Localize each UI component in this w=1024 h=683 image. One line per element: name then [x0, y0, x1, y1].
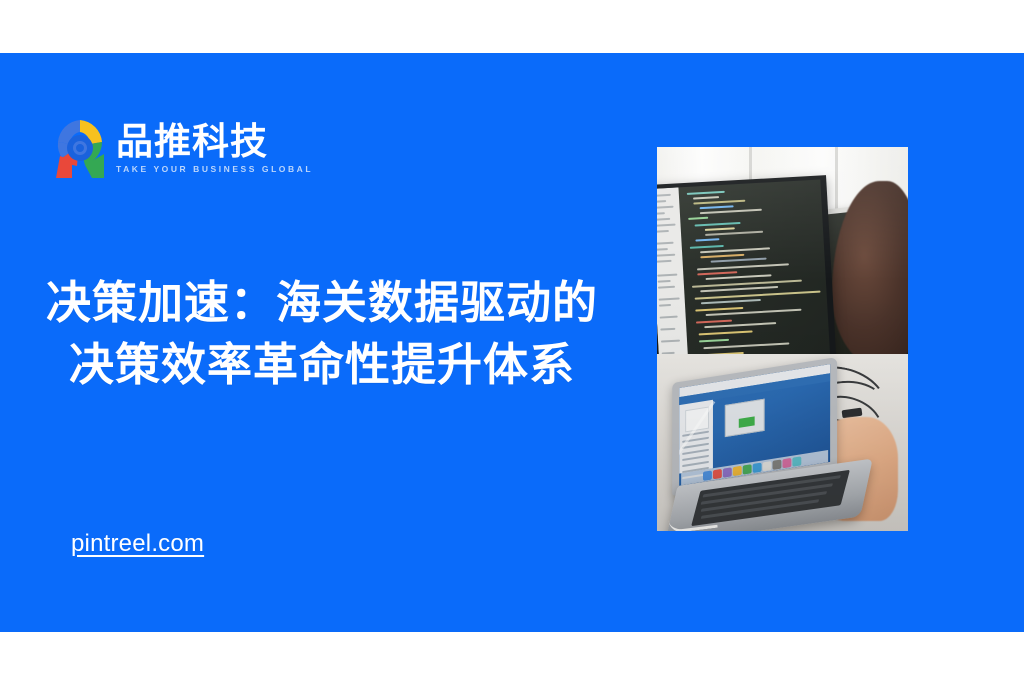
logo-company-name: 品推科技	[116, 122, 313, 162]
pintreel-circle-logo-icon	[52, 116, 108, 178]
website-url-link[interactable]: pintreel.com	[71, 529, 204, 559]
macbook-laptop	[657, 357, 880, 531]
page-title-line-1: 决策加速：海关数据驱动的	[22, 272, 622, 334]
page-title-line-2: 决策效率革命性提升体系	[22, 334, 622, 396]
slide-canvas: 品推科技 TAKE YOUR BUSINESS GLOBAL 决策加速：海关数据…	[0, 0, 1024, 683]
logo-text-block: 品推科技 TAKE YOUR BUSINESS GLOBAL	[116, 120, 313, 175]
developer-workstation-photo	[657, 147, 908, 531]
page-title: 决策加速：海关数据驱动的 决策效率革命性提升体系	[22, 272, 622, 396]
logo-tagline: TAKE YOUR BUSINESS GLOBAL	[116, 163, 313, 175]
brand-logo[interactable]: 品推科技 TAKE YOUR BUSINESS GLOBAL	[52, 116, 313, 178]
